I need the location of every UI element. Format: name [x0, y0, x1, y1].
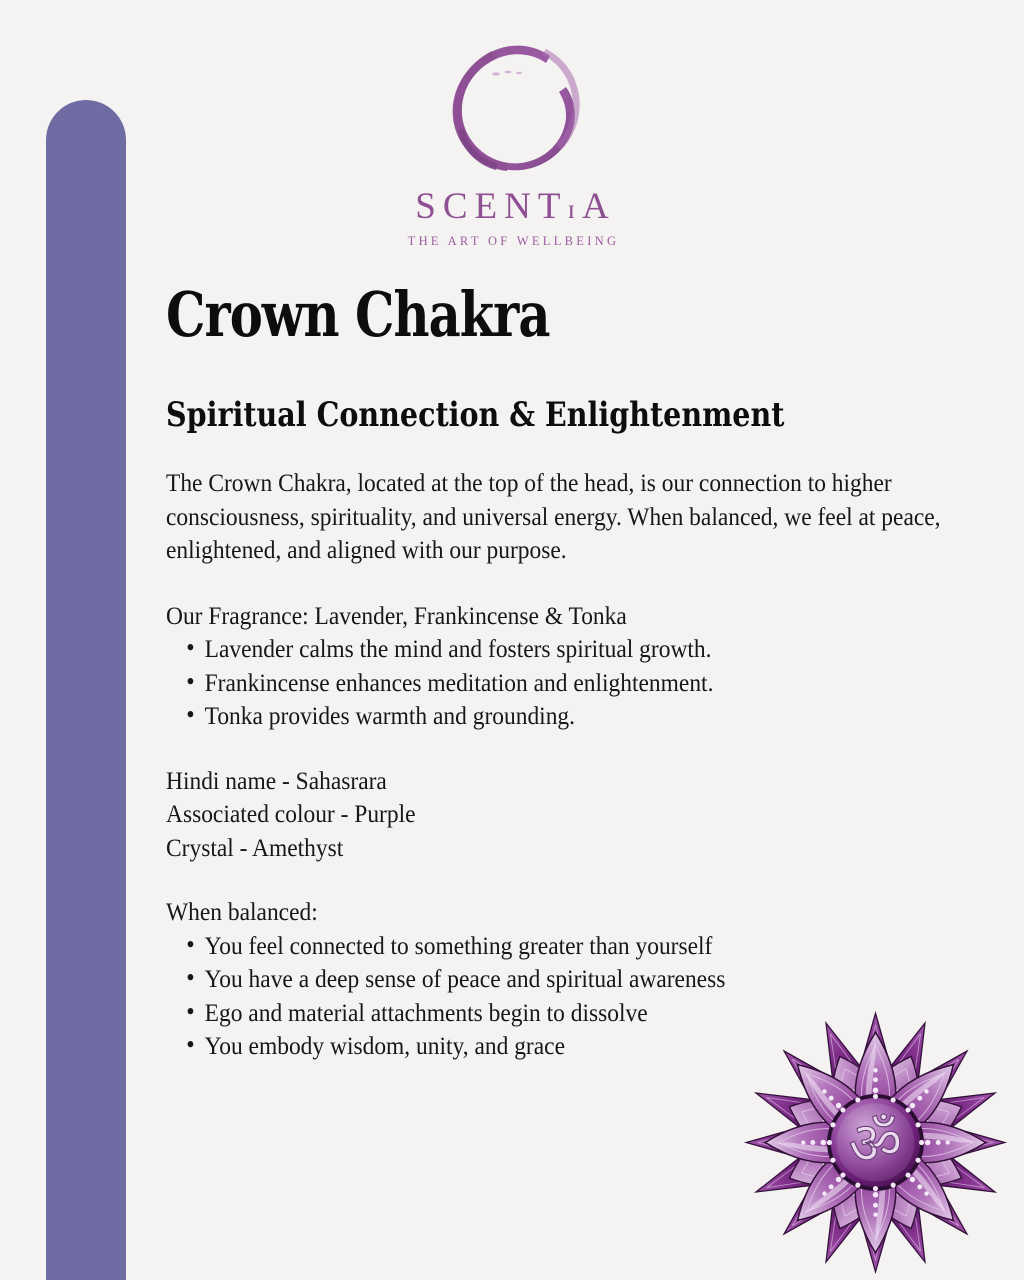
- brand-logo-block: SCENTɪA THE ART OF WELLBEING: [0, 34, 1024, 249]
- body-copy: The Crown Chakra, located at the top of …: [166, 466, 996, 1063]
- brand-name-tail: A: [582, 186, 616, 227]
- list-item: Lavender calms the mind and fosters spir…: [166, 632, 996, 666]
- list-item: You have a deep sense of peace and spiri…: [166, 962, 996, 996]
- balanced-lead: When balanced:: [166, 895, 996, 929]
- poster-page: SCENTɪA THE ART OF WELLBEING Crown Chakr…: [0, 0, 1024, 1280]
- om-symbol-glyph: ॐ: [849, 1108, 903, 1177]
- main-content: Crown Chakra Spiritual Connection & Enli…: [166, 284, 996, 1063]
- left-accent-bar: [46, 100, 126, 1280]
- attribute-hindi-name: Hindi name - Sahasrara: [166, 764, 996, 798]
- brand-name: SCENTɪA: [408, 188, 615, 225]
- fragrance-lead: Our Fragrance: Lavender, Frankincense & …: [166, 599, 996, 633]
- list-item: You feel connected to something greater …: [166, 929, 996, 963]
- list-item: Tonka provides warmth and grounding.: [166, 699, 996, 733]
- brand-name-i: ɪ: [567, 194, 582, 224]
- page-title: Crown Chakra: [166, 284, 830, 346]
- brand-tagline: THE ART OF WELLBEING: [405, 234, 620, 249]
- attribute-crystal: Crystal - Amethyst: [166, 831, 996, 865]
- list-item: Frankincense enhances meditation and enl…: [166, 666, 996, 700]
- fragrance-list: Lavender calms the mind and fosters spir…: [166, 632, 996, 733]
- crown-chakra-lotus-mandala-icon: ॐ: [733, 1000, 1018, 1280]
- page-subtitle: Spiritual Connection & Enlightenment: [166, 398, 863, 432]
- brand-name-head: SCENT: [415, 186, 567, 227]
- enso-circle-icon: [438, 34, 586, 182]
- intro-paragraph: The Crown Chakra, located at the top of …: [166, 466, 996, 567]
- attribute-colour: Associated colour - Purple: [166, 797, 996, 831]
